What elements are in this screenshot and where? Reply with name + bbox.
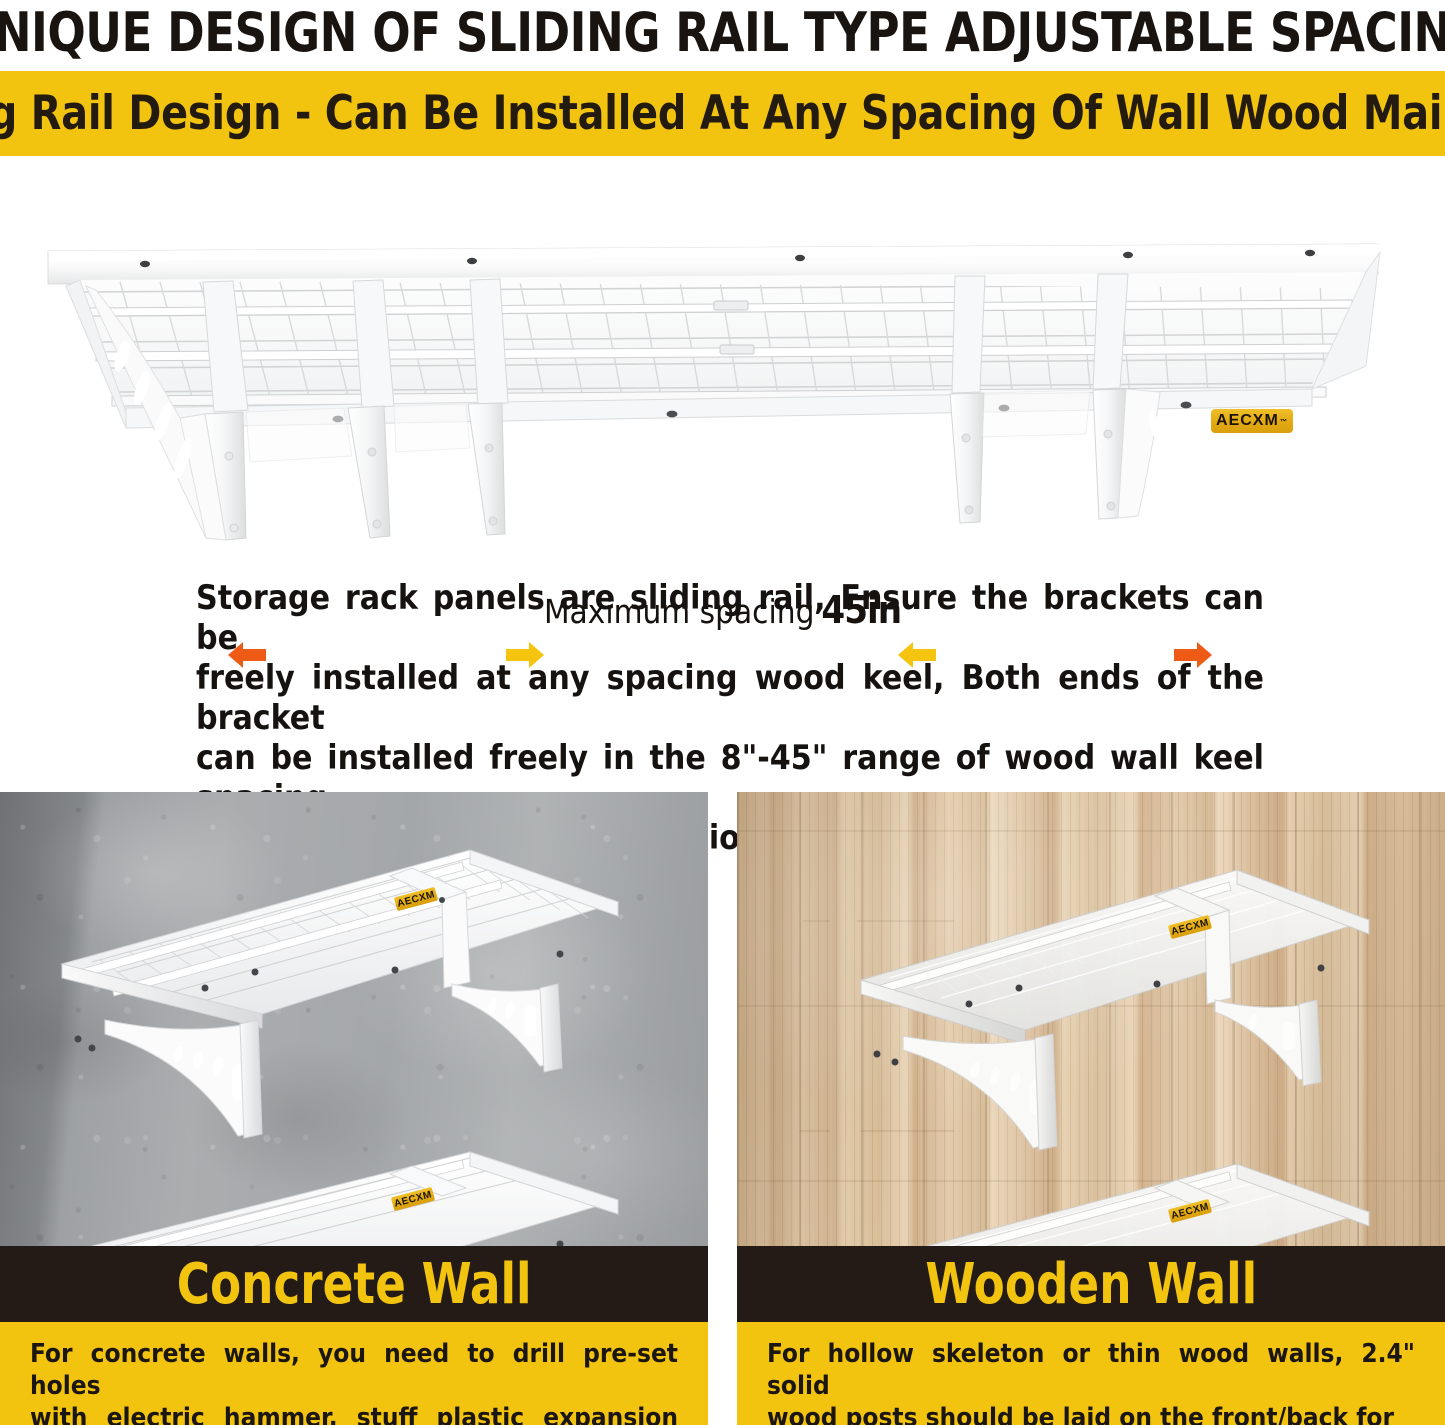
wooden-caption-line-1: For hollow skeleton or thin wood walls, … [767,1338,1415,1402]
concrete-wall-photo: AECXM AECXM [0,792,708,1246]
wooden-wall-photo: AECXM AECXM [737,792,1445,1246]
wooden-wall-caption: For hollow skeleton or thin wood walls, … [737,1322,1445,1425]
bracket [348,406,390,538]
concrete-wall-caption: For concrete walls, you need to drill pr… [0,1322,708,1425]
infographic-page: UNIQUE DESIGN OF SLIDING RAIL TYPE ADJUS… [0,0,1445,1425]
wooden-wall-title: Wooden Wall [925,1252,1257,1317]
concrete-caption-line-2: with electric hammer, stuff plastic expa… [30,1402,678,1425]
brand-badge-hero-text: AECXM [1216,412,1279,430]
subtitle-banner-text: Sliding Rail Design - Can Be Installed A… [0,86,1445,141]
shelf-upper [861,870,1369,1150]
panel-concrete-wall: AECXM AECXM Concrete Wall For concrete w… [0,792,708,1425]
panel-wooden-wall: AECXM AECXM Wooden Wall For hollow skele… [737,792,1445,1425]
trademark-mark: ™ [1280,417,1288,426]
description-line-2: freely installed at any spacing wood kee… [196,658,1264,738]
bracket [950,393,984,523]
brand-badge-hero: AECXM™ [1211,409,1293,433]
page-title: UNIQUE DESIGN OF SLIDING RAIL TYPE ADJUS… [51,0,1395,68]
shelf-upper [62,850,618,1138]
concrete-caption-line-1: For concrete walls, you need to drill pr… [30,1338,678,1402]
concrete-wall-title-bar: Concrete Wall [0,1246,708,1322]
installation-panels: AECXM AECXM Concrete Wall For concrete w… [0,792,1445,1425]
wooden-caption-line-2: wood posts should be laid on the front/b… [767,1402,1415,1425]
shelf-perspective-illustration [0,156,1445,546]
wooden-wall-title-bar: Wooden Wall [737,1246,1445,1322]
bracket [468,403,505,535]
bracket [1093,389,1160,519]
wooden-wall-shelves-illustration [737,792,1445,1246]
concrete-wall-title: Concrete Wall [177,1252,532,1317]
description-line-1: Storage rack panels are sliding rail, En… [196,578,1264,658]
subtitle-banner: Sliding Rail Design - Can Be Installed A… [0,71,1445,156]
shelf-lower [60,1152,618,1246]
shelf-lower [859,1164,1369,1246]
concrete-wall-shelves-illustration [0,792,708,1246]
